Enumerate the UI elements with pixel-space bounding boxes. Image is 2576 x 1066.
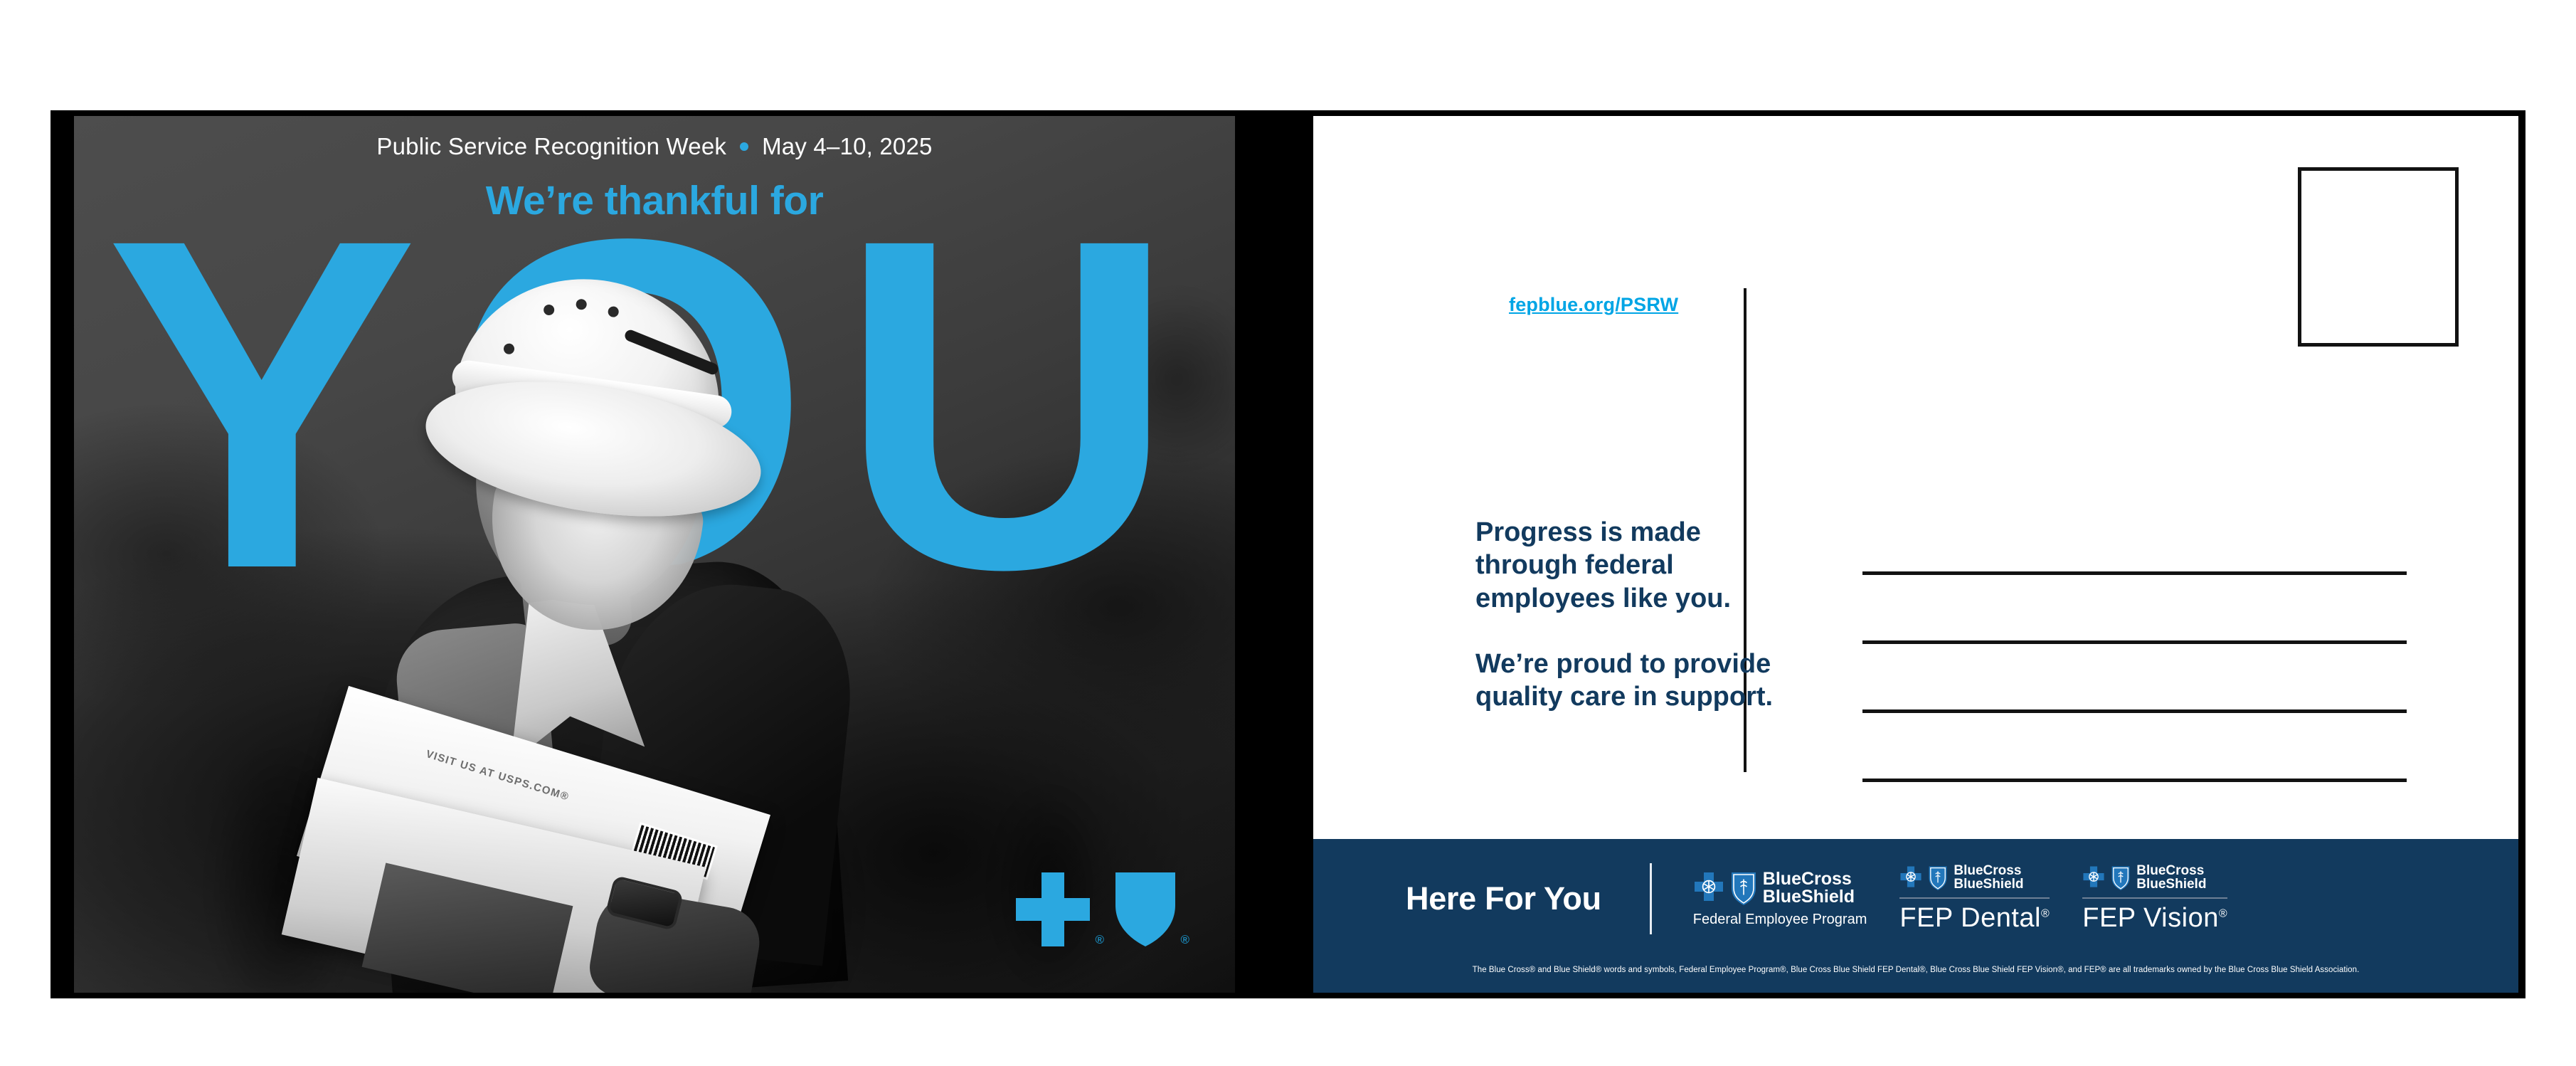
product-name-dental: FEP Dental® <box>1899 903 2050 934</box>
blue-cross-icon <box>2082 865 2105 890</box>
mail-carrier-photo: VISIT US AT USPS.COM® <box>287 200 899 993</box>
brand-marks: ® ® <box>1016 872 1175 950</box>
registered-mark: ® <box>1180 933 1189 947</box>
event-name: Public Service Recognition Week <box>376 133 726 160</box>
address-line[interactable] <box>1862 709 2407 713</box>
bcbs-line-2: BlueShield <box>2136 877 2206 891</box>
bcbs-line-1: BlueCross <box>2136 864 2206 877</box>
bcbs-wordmark: BlueCross BlueShield <box>1763 870 1855 907</box>
address-line[interactable] <box>1862 640 2407 644</box>
footer-divider <box>1650 863 1652 934</box>
blue-shield-icon <box>1115 872 1175 946</box>
bcbs-line-1: BlueCross <box>1763 870 1855 889</box>
psrw-url-link[interactable]: fepblue.org/PSRW <box>1509 294 1678 316</box>
bcbs-lockup: BlueCross BlueShield <box>2082 864 2227 892</box>
postcard-back: fepblue.org/PSRW Progress is made throug… <box>1306 110 2525 998</box>
event-eyebrow: Public Service Recognition Week May 4–10… <box>74 133 1235 160</box>
blue-cross-icon <box>1899 865 1922 890</box>
registered-mark: ® <box>1095 933 1104 947</box>
event-dates: May 4–10, 2025 <box>762 133 932 160</box>
postcard-front: YOU VISIT US AT USPS.COM® <box>51 110 1306 998</box>
blue-cross-mark-wrap: ® <box>1016 872 1090 950</box>
stamp-placement-box <box>2298 167 2459 347</box>
blue-shield-icon <box>1928 865 1948 890</box>
blue-shield-icon <box>1730 871 1757 905</box>
logo-fep-vision: BlueCross BlueShield FEP Vision® <box>2082 864 2227 934</box>
trademark-disclaimer: The Blue Cross® and Blue Shield® words a… <box>1313 966 2518 974</box>
bcbs-wordmark: BlueCross BlueShield <box>1954 864 2023 892</box>
address-line[interactable] <box>1862 571 2407 575</box>
fep-subtitle: Federal Employee Program <box>1693 912 1867 928</box>
postcard-back-surface: fepblue.org/PSRW Progress is made throug… <box>1313 116 2518 993</box>
blue-cross-icon <box>1016 872 1090 946</box>
front-title: We’re thankful for <box>74 177 1235 224</box>
logo-rule <box>1899 897 2050 899</box>
logo-bcbs-fep: BlueCross BlueShield Federal Employee Pr… <box>1693 870 1867 928</box>
front-headline-block: Public Service Recognition Week May 4–10… <box>74 133 1235 224</box>
registered-mark: ® <box>2219 908 2227 920</box>
bcbs-wordmark: BlueCross BlueShield <box>2136 864 2206 892</box>
address-lines <box>1862 571 2407 782</box>
bcbs-line-1: BlueCross <box>1954 864 2023 877</box>
product-label: FEP Vision <box>2082 903 2219 933</box>
logo-fep-dental: BlueCross BlueShield FEP Dental® <box>1899 864 2050 934</box>
address-line[interactable] <box>1862 779 2407 782</box>
message-line-1: Progress is made through federal employe… <box>1475 516 1774 615</box>
bcbs-lockup: BlueCross BlueShield <box>1693 870 1867 907</box>
bullet-separator-icon <box>740 142 748 151</box>
bcbs-lockup: BlueCross BlueShield <box>1899 864 2050 892</box>
logo-rule <box>2082 897 2227 899</box>
blue-shield-mark-wrap: ® <box>1115 872 1175 950</box>
blue-shield-icon <box>2111 865 2131 890</box>
blue-cross-icon <box>1693 871 1724 905</box>
bcbs-line-2: BlueShield <box>1954 877 2023 891</box>
product-name-vision: FEP Vision® <box>2082 903 2227 934</box>
footer-tagline: Here For You <box>1406 880 1601 917</box>
footer-logo-row: Here For You <box>1313 839 2518 959</box>
registered-mark: ® <box>2041 908 2050 920</box>
product-label: FEP Dental <box>1899 903 2041 933</box>
brand-footer: Here For You <box>1313 839 2518 993</box>
message-line-2: We’re proud to provide quality care in s… <box>1475 648 1774 714</box>
bcbs-line-2: BlueShield <box>1763 888 1855 907</box>
postcard-front-artwork: YOU VISIT US AT USPS.COM® <box>74 116 1235 993</box>
message-block: Progress is made through federal employe… <box>1475 516 1774 714</box>
